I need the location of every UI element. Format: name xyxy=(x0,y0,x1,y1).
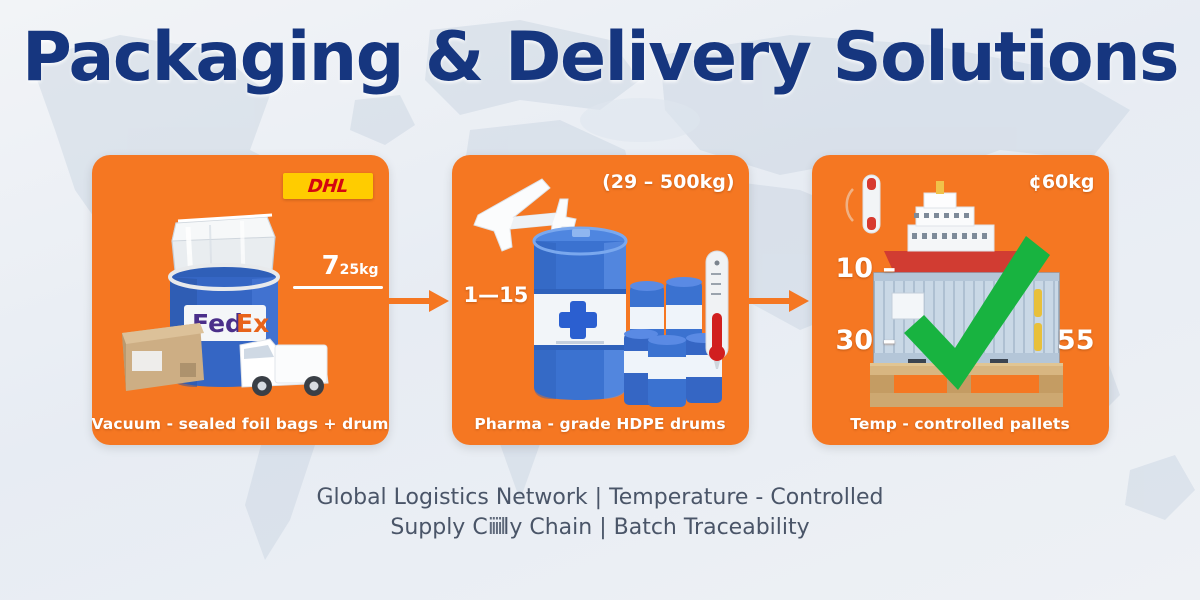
cards-row: DHL Fed Ex xyxy=(0,155,1200,445)
weight-badge: 725kg xyxy=(322,251,379,281)
weight-small: 25kg xyxy=(340,262,379,278)
blue-drum-icon xyxy=(534,228,626,400)
tagline: Global Logistics Network | Temperature -… xyxy=(0,483,1200,543)
temp-upper-label: 10 – xyxy=(836,253,896,284)
tagline-line-2: Supply Ciiiilly Chain | Batch Traceabili… xyxy=(0,513,1200,543)
temp-right-label: 55 xyxy=(1057,325,1095,356)
thermometer-icon xyxy=(706,251,728,369)
quantity-range-label: 1—15 xyxy=(464,283,529,307)
card-temp-pallets[interactable]: ¢60kg xyxy=(812,155,1109,445)
weight-underline xyxy=(293,286,383,289)
tagline-line-2-a: Supply C xyxy=(390,515,487,540)
card-vacuum-sealed[interactable]: DHL Fed Ex xyxy=(92,155,389,445)
delivery-truck-icon xyxy=(240,339,328,396)
cargo-ship-icon xyxy=(884,181,1018,273)
page-title: Packaging & Delivery Solutions xyxy=(0,18,1200,97)
svg-text:Ex: Ex xyxy=(236,309,269,338)
thermometer-icon xyxy=(846,175,879,233)
tagline-line-2-garble: iiiil xyxy=(488,515,504,540)
tagline-line-1: Global Logistics Network | Temperature -… xyxy=(0,483,1200,513)
flow-arrow-2 xyxy=(749,280,812,320)
tagline-line-2-b: ly Chain | Batch Traceability xyxy=(503,515,809,540)
card-hdpe-drums[interactable]: (29 – 500kg) xyxy=(452,155,749,445)
flow-arrow-1 xyxy=(389,280,452,320)
card-caption: Pharma - grade HDPE drums xyxy=(452,415,749,433)
cardboard-box-icon xyxy=(122,323,204,391)
card-caption: Temp - controlled pallets xyxy=(812,415,1109,433)
card-3-illustration xyxy=(812,155,1109,445)
card-caption: Vacuum - sealed foil bags + drum xyxy=(92,415,389,433)
temp-lower-label: 30 – xyxy=(836,325,896,356)
weight-big: 7 xyxy=(322,251,340,281)
card-1-illustration: Fed Ex xyxy=(92,155,389,445)
